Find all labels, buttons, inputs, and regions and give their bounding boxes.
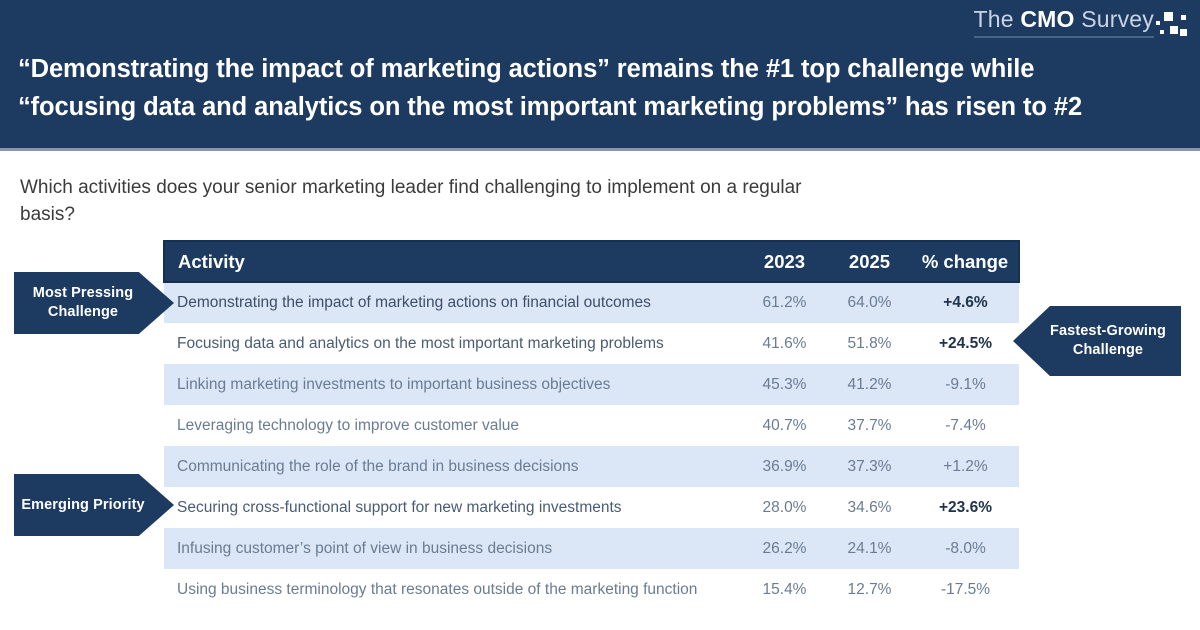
challenges-table: Activity 2023 2025 % change Demonstratin…	[163, 240, 1020, 610]
cell-activity: Infusing customer’s point of view in bus…	[164, 528, 742, 569]
callout-emerging-priority: Emerging Priority	[14, 474, 174, 536]
cell-activity: Linking marketing investments to importa…	[164, 364, 742, 405]
table-row: Demonstrating the impact of marketing ac…	[164, 282, 1019, 323]
cell-2023: 36.9%	[742, 446, 827, 487]
table-row: Using business terminology that resonate…	[164, 569, 1019, 610]
logo-bold-cmo: CMO	[1020, 6, 1074, 32]
page-title-line-2: “focusing data and analytics on the most…	[18, 88, 1168, 126]
cell-pct-change: +4.6%	[912, 282, 1019, 323]
logo-suffix: Survey	[1075, 6, 1154, 32]
column-header-2023: 2023	[742, 241, 827, 282]
cell-2025: 34.6%	[827, 487, 912, 528]
cell-2023: 41.6%	[742, 323, 827, 364]
cell-pct-change: -8.0%	[912, 528, 1019, 569]
table-row: Communicating the role of the brand in b…	[164, 446, 1019, 487]
cell-2025: 24.1%	[827, 528, 912, 569]
cell-pct-change: -9.1%	[912, 364, 1019, 405]
cell-2023: 40.7%	[742, 405, 827, 446]
table-row: Leveraging technology to improve custome…	[164, 405, 1019, 446]
cell-activity: Communicating the role of the brand in b…	[164, 446, 742, 487]
slide-root: The CMO Survey “Demonstrating the impact…	[0, 0, 1200, 630]
table-row: Securing cross-functional support for ne…	[164, 487, 1019, 528]
cell-2023: 15.4%	[742, 569, 827, 610]
table-row: Infusing customer’s point of view in bus…	[164, 528, 1019, 569]
header-band-divider	[0, 148, 1200, 151]
cell-2025: 41.2%	[827, 364, 912, 405]
cell-activity: Securing cross-functional support for ne…	[164, 487, 742, 528]
column-header-2025: 2025	[827, 241, 912, 282]
table-header-row: Activity 2023 2025 % change	[164, 241, 1019, 282]
cell-activity: Leveraging technology to improve custome…	[164, 405, 742, 446]
cell-2025: 37.7%	[827, 405, 912, 446]
cell-2025: 12.7%	[827, 569, 912, 610]
table-row: Linking marketing investments to importa…	[164, 364, 1019, 405]
page-title: “Demonstrating the impact of marketing a…	[18, 50, 1168, 126]
logo-wordmark: The CMO Survey	[974, 8, 1154, 38]
logo-prefix: The	[974, 6, 1021, 32]
survey-question: Which activities does your senior market…	[20, 174, 850, 228]
cell-2023: 26.2%	[742, 528, 827, 569]
cell-pct-change: -7.4%	[912, 405, 1019, 446]
cmo-survey-logo: The CMO Survey	[974, 8, 1186, 38]
cell-2025: 37.3%	[827, 446, 912, 487]
cell-activity: Focusing data and analytics on the most …	[164, 323, 742, 364]
cell-2025: 64.0%	[827, 282, 912, 323]
table-row: Focusing data and analytics on the most …	[164, 323, 1019, 364]
cell-pct-change: -17.5%	[912, 569, 1019, 610]
cell-pct-change: +1.2%	[912, 446, 1019, 487]
column-header-pct-change: % change	[912, 241, 1019, 282]
column-header-activity: Activity	[164, 241, 742, 282]
callout-most-pressing-challenge: Most Pressing Challenge	[14, 272, 174, 334]
cell-pct-change: +24.5%	[912, 323, 1019, 364]
cell-2023: 61.2%	[742, 282, 827, 323]
logo-dots-icon	[1156, 10, 1186, 36]
page-title-line-1: “Demonstrating the impact of marketing a…	[18, 50, 1168, 88]
cell-2023: 28.0%	[742, 487, 827, 528]
cell-activity: Demonstrating the impact of marketing ac…	[164, 282, 742, 323]
callout-fastest-growing-challenge: Fastest-Growing Challenge	[1013, 306, 1181, 376]
challenges-table-container: Activity 2023 2025 % change Demonstratin…	[163, 240, 1018, 610]
cell-2023: 45.3%	[742, 364, 827, 405]
cell-2025: 51.8%	[827, 323, 912, 364]
cell-activity: Using business terminology that resonate…	[164, 569, 742, 610]
cell-pct-change: +23.6%	[912, 487, 1019, 528]
